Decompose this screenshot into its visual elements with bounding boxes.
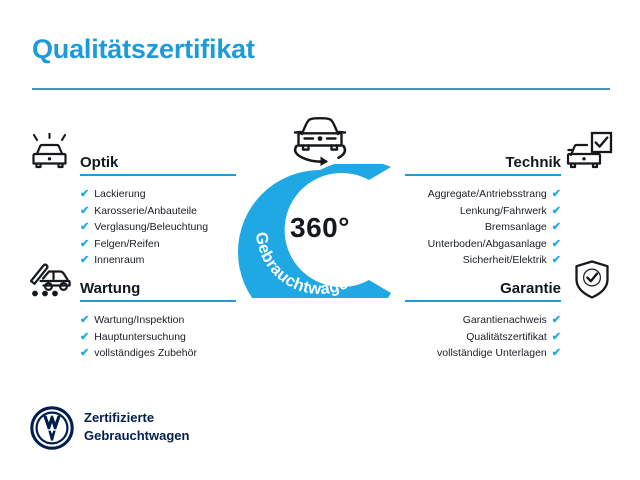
section-garantie-list: Garantienachweis✔ Qualitätszertifikat✔ v… xyxy=(405,312,561,362)
car-wrench-icon xyxy=(27,259,73,306)
list-item: vollständige Unterlagen✔ xyxy=(405,345,561,362)
list-item-label: vollständige Unterlagen xyxy=(437,347,547,359)
section-garantie-header: Garantie xyxy=(405,272,561,298)
list-item: ✔vollständiges Zubehör xyxy=(80,345,236,362)
list-item-label: Bremsanlage xyxy=(485,221,547,233)
check-icon: ✔ xyxy=(552,331,561,343)
footer-line-1: Zertifizierte xyxy=(84,409,189,427)
list-item: Lenkung/Fahrwerk✔ xyxy=(405,203,561,220)
list-item: ✔Karosserie/Anbauteile xyxy=(80,203,236,220)
section-technik-header: Technik xyxy=(405,146,561,172)
check-icon: ✔ xyxy=(80,331,89,343)
list-item: ✔Hauptuntersuchung xyxy=(80,329,236,346)
section-optik-divider xyxy=(80,174,236,176)
shield-check-icon xyxy=(573,259,611,306)
check-icon: ✔ xyxy=(80,205,89,217)
section-technik-list: Aggregate/Antriebsstrang✔ Lenkung/Fahrwe… xyxy=(405,186,561,269)
list-item: ✔Wartung/Inspektion xyxy=(80,312,236,329)
section-wartung-header: Wartung xyxy=(80,272,236,298)
section-optik-list: ✔Lackierung ✔Karosserie/Anbauteile ✔Verg… xyxy=(80,186,236,269)
footer-line-2: Gebrauchtwagen xyxy=(84,427,189,445)
list-item-label: vollständiges Zubehör xyxy=(94,347,197,359)
section-garantie: Garantie Garantienachweis✔ Qualitätszert… xyxy=(405,272,561,362)
section-optik-header: Optik xyxy=(80,146,236,172)
car-shine-icon xyxy=(27,133,73,180)
list-item-label: Felgen/Reifen xyxy=(94,238,159,250)
check-icon: ✔ xyxy=(80,314,89,326)
check-icon: ✔ xyxy=(80,238,89,250)
list-item-label: Unterboden/Abgasanlage xyxy=(428,238,547,250)
badge-360-gebrauchtwagen-check: Gebrauchtwagen-Check 360° xyxy=(232,112,408,298)
car-checkbox-icon xyxy=(565,131,613,180)
check-icon: ✔ xyxy=(552,221,561,233)
list-item-label: Aggregate/Antriebsstrang xyxy=(428,188,547,200)
section-technik-title: Technik xyxy=(505,154,561,171)
section-optik-title: Optik xyxy=(80,154,118,171)
page-title: Qualitätszertifikat xyxy=(32,34,255,65)
check-icon: ✔ xyxy=(80,347,89,359)
section-garantie-title: Garantie xyxy=(500,280,561,297)
check-icon: ✔ xyxy=(552,347,561,359)
list-item-label: Qualitätszertifikat xyxy=(466,331,547,343)
list-item: Garantienachweis✔ xyxy=(405,312,561,329)
check-icon: ✔ xyxy=(552,254,561,266)
check-icon: ✔ xyxy=(80,188,89,200)
footer-text: Zertifizierte Gebrauchtwagen xyxy=(84,409,189,445)
section-wartung-list: ✔Wartung/Inspektion ✔Hauptuntersuchung ✔… xyxy=(80,312,236,362)
section-optik: Optik ✔Lackierung ✔Karosserie/Anbauteile… xyxy=(80,146,236,269)
check-icon: ✔ xyxy=(552,188,561,200)
check-icon: ✔ xyxy=(80,254,89,266)
list-item: Bremsanlage✔ xyxy=(405,219,561,236)
list-item-label: Innenraum xyxy=(94,254,144,266)
list-item-label: Wartung/Inspektion xyxy=(94,314,184,326)
list-item: ✔Verglasung/Beleuchtung xyxy=(80,219,236,236)
title-divider xyxy=(32,88,610,90)
list-item: ✔Innenraum xyxy=(80,252,236,269)
section-wartung-title: Wartung xyxy=(80,280,140,297)
check-icon: ✔ xyxy=(552,238,561,250)
section-technik: Technik Aggregate/Antriebsstrang✔ Lenkun… xyxy=(405,146,561,269)
list-item: ✔Felgen/Reifen xyxy=(80,236,236,253)
list-item-label: Garantienachweis xyxy=(463,314,547,326)
car-rotate-icon xyxy=(282,112,358,172)
badge-center-label: 360° xyxy=(232,212,408,244)
list-item-label: Sicherheit/Elektrik xyxy=(463,254,547,266)
section-technik-divider xyxy=(405,174,561,176)
check-icon: ✔ xyxy=(552,205,561,217)
check-icon: ✔ xyxy=(552,314,561,326)
certificate-sheet: Qualitätszertifikat Optik ✔Lackierung xyxy=(0,0,640,480)
list-item: Qualitätszertifikat✔ xyxy=(405,329,561,346)
list-item: ✔Lackierung xyxy=(80,186,236,203)
section-wartung-divider xyxy=(80,300,236,302)
list-item: Aggregate/Antriebsstrang✔ xyxy=(405,186,561,203)
check-icon: ✔ xyxy=(80,221,89,233)
list-item-label: Lenkung/Fahrwerk xyxy=(460,205,547,217)
list-item-label: Verglasung/Beleuchtung xyxy=(94,221,208,233)
section-garantie-divider xyxy=(405,300,561,302)
section-wartung: Wartung ✔Wartung/Inspektion ✔Hauptunters… xyxy=(80,272,236,362)
list-item: Sicherheit/Elektrik✔ xyxy=(405,252,561,269)
list-item: Unterboden/Abgasanlage✔ xyxy=(405,236,561,253)
list-item-label: Karosserie/Anbauteile xyxy=(94,205,197,217)
list-item-label: Hauptuntersuchung xyxy=(94,331,186,343)
list-item-label: Lackierung xyxy=(94,188,145,200)
vw-logo-icon xyxy=(30,406,74,450)
